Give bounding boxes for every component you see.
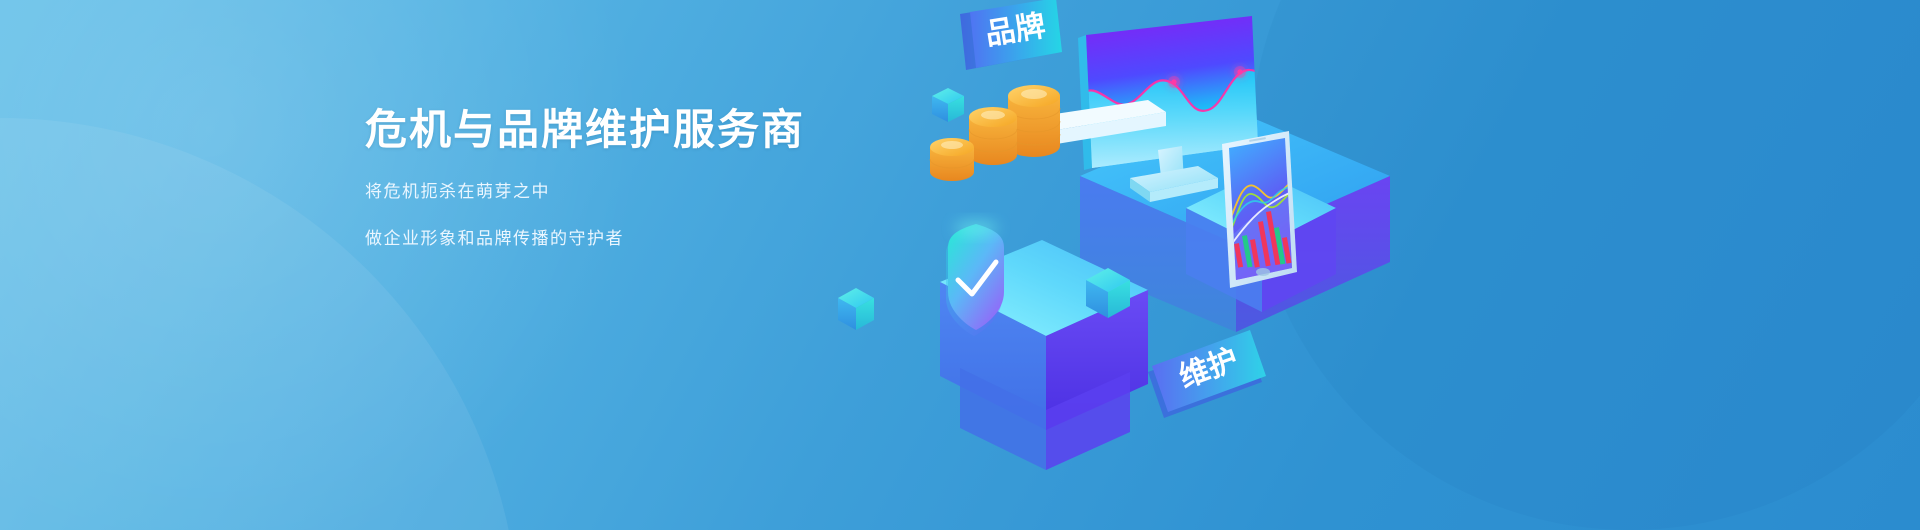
brand-sign: 品牌 (960, 0, 1062, 70)
hero-illustration: 品牌 (830, 0, 1530, 530)
subtitle-line-1: 将危机扼杀在萌芽之中 (365, 177, 1065, 202)
monitor-data-point (1168, 76, 1180, 88)
hero-banner: 危机与品牌维护服务商 将危机扼杀在萌芽之中 做企业形象和品牌传播的守护者 (0, 0, 1920, 530)
background-glow (0, 0, 660, 530)
floating-cube-left (838, 288, 874, 330)
monitor-data-point (1234, 66, 1246, 78)
phone-chart (1222, 131, 1298, 296)
phone-home-button (1256, 268, 1270, 276)
page-title: 危机与品牌维护服务商 (365, 104, 1065, 157)
hero-copy: 危机与品牌维护服务商 将危机扼杀在萌芽之中 做企业形象和品牌传播的守护者 (365, 104, 1065, 249)
maintain-sign: 维护 (1148, 330, 1266, 418)
subtitle-line-2: 做企业形象和品牌传播的守护者 (365, 224, 1065, 249)
